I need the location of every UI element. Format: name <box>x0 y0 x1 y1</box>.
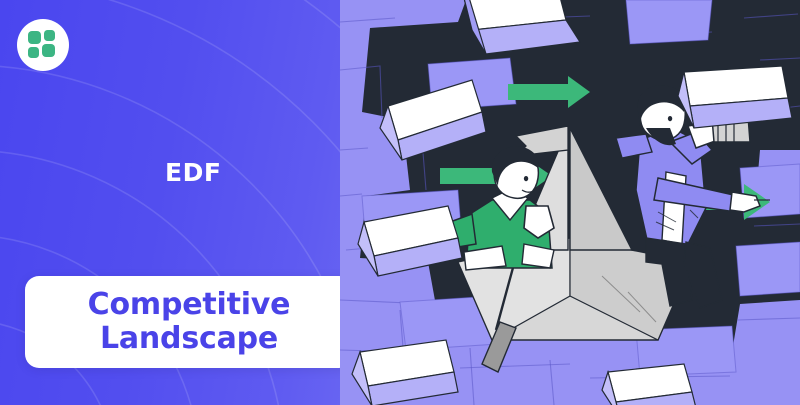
banner-root: EDF Competitive Landscape <box>0 0 800 405</box>
logo-tile-bottom-right <box>42 44 55 57</box>
hero-illustration <box>340 0 800 405</box>
page-title: Competitive Landscape <box>88 288 291 355</box>
title-card: Competitive Landscape <box>25 276 353 368</box>
logo-tile-top-right <box>44 30 55 41</box>
eyebrow-label: EDF <box>165 160 221 185</box>
page-title-line-1: Competitive <box>88 287 291 322</box>
logo-tile-bottom-left <box>28 47 39 58</box>
logo-grid-icon <box>28 30 58 60</box>
logo-tile-top-left <box>28 31 41 44</box>
page-title-line-2: Landscape <box>100 321 278 356</box>
flying-brick <box>678 66 792 128</box>
app-logo[interactable] <box>17 19 69 71</box>
